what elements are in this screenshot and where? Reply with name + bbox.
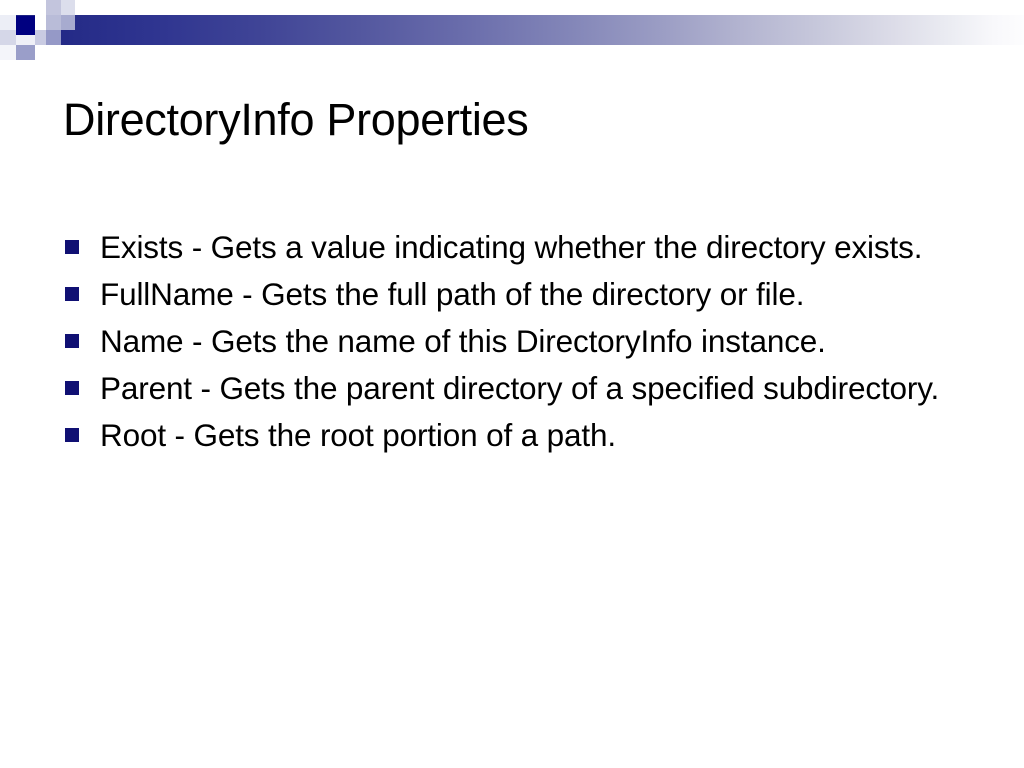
mosaic-square [61,15,75,30]
bullet-square-icon [65,287,79,301]
header-gradient-bar [16,15,1024,45]
list-item-label: Root - Gets the root portion of a path. [100,416,953,454]
list-item: Name - Gets the name of this DirectoryIn… [63,322,953,360]
list-item: FullName - Gets the full path of the dir… [63,275,953,313]
list-item: Exists - Gets a value indicating whether… [63,228,953,266]
list-item-label: FullName - Gets the full path of the dir… [100,275,953,313]
bullet-square-icon [65,381,79,395]
mosaic-square [0,45,16,60]
bullet-square-icon [65,240,79,254]
mosaic-accent-square [16,16,35,35]
mosaic-square [46,15,61,30]
mosaic-square [46,0,61,15]
list-item-label: Parent - Gets the parent directory of a … [100,369,953,407]
list-item: Parent - Gets the parent directory of a … [63,369,953,407]
mosaic-square [16,45,35,60]
mosaic-square [35,15,46,30]
mosaic-square [46,30,61,45]
list-item: Root - Gets the root portion of a path. [63,416,953,454]
list-item-label: Name - Gets the name of this DirectoryIn… [100,322,953,360]
slide-header-decoration [0,0,1024,75]
list-item-label: Exists - Gets a value indicating whether… [100,228,953,266]
mosaic-square [16,35,35,45]
bullet-square-icon [65,428,79,442]
bullet-square-icon [65,334,79,348]
mosaic-square [0,15,16,30]
slide-body-content: Exists - Gets a value indicating whether… [63,228,953,463]
mosaic-square [35,30,46,45]
mosaic-square [0,30,16,45]
mosaic-square [61,0,75,15]
slide-title: DirectoryInfo Properties [63,96,963,143]
